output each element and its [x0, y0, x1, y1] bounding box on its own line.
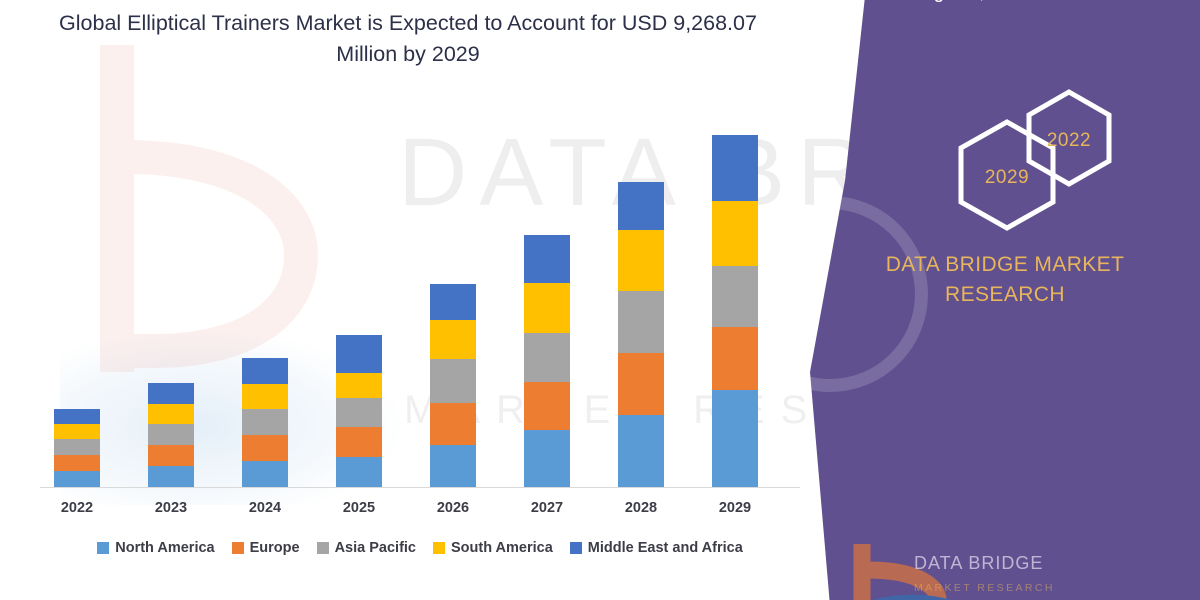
x-axis-label: 2029 [692, 500, 778, 516]
bar-segment [618, 415, 664, 487]
hexagon-badge-2022-label: 2022 [1023, 88, 1115, 193]
bar-segment [54, 409, 100, 424]
brand-logo-subtext: MARKET RESEARCH [914, 582, 1055, 594]
bar-segment [524, 333, 570, 382]
bar-segment [148, 424, 194, 445]
bar-stack [712, 135, 758, 487]
brand-name-line-2: RESEARCH [945, 283, 1065, 306]
brand-logo-text: DATA BRIDGE [914, 553, 1043, 574]
bar-stack [524, 235, 570, 487]
legend-swatch [97, 542, 109, 554]
legend-swatch [570, 542, 582, 554]
bar-segment [618, 230, 664, 291]
bar-stack [54, 409, 100, 487]
legend-label: Middle East and Africa [588, 540, 743, 556]
legend-swatch [232, 542, 244, 554]
x-axis-label: 2024 [222, 500, 308, 516]
brand-name-line-1: DATA BRIDGE MARKET [886, 253, 1125, 276]
chart-legend: North AmericaEuropeAsia PacificSouth Ame… [40, 540, 800, 556]
x-axis-label: 2027 [504, 500, 590, 516]
bar-stack [618, 182, 664, 487]
bar-group [336, 335, 382, 487]
legend-item[interactable]: Asia Pacific [317, 540, 416, 556]
brand-panel: Regions, 2022 to 2029 2029 2022 DATA BRI… [810, 0, 1200, 600]
bar-segment [148, 445, 194, 466]
bar-segment [524, 283, 570, 333]
legend-swatch [317, 542, 329, 554]
bar-segment [524, 430, 570, 487]
bar-segment [54, 439, 100, 455]
bar-stack [336, 335, 382, 487]
bar-segment [148, 466, 194, 487]
panel-heading: Regions, 2022 to 2029 [810, 0, 1200, 6]
bar-segment [242, 435, 288, 461]
legend-swatch [433, 542, 445, 554]
bar-group [148, 383, 194, 487]
x-axis-label: 2026 [410, 500, 496, 516]
x-axis-label: 2022 [34, 500, 120, 516]
bar-segment [618, 353, 664, 415]
hexagon-badge-2022: 2022 [1023, 88, 1115, 193]
infographic-canvas: DATA BRIDGE MARKET RESEARCH Global Ellip… [0, 0, 1200, 600]
bar-stack [148, 383, 194, 487]
bar-group [712, 135, 758, 487]
x-axis-label: 2025 [316, 500, 402, 516]
legend-item[interactable]: North America [97, 540, 214, 556]
bar-segment [336, 373, 382, 398]
bar-segment [712, 390, 758, 487]
bar-group [524, 235, 570, 487]
bar-segment [430, 403, 476, 445]
bar-segment [430, 320, 476, 359]
brand-name: DATA BRIDGE MARKET RESEARCH [810, 250, 1200, 310]
legend-item[interactable]: Middle East and Africa [570, 540, 743, 556]
bar-segment [524, 235, 570, 283]
bar-group [242, 358, 288, 487]
bar-segment [242, 409, 288, 435]
bar-segment [336, 398, 382, 427]
bar-segment [242, 358, 288, 384]
bar-segment [712, 135, 758, 201]
bar-segment [148, 404, 194, 424]
bar-segment [618, 291, 664, 353]
bar-segment [54, 455, 100, 471]
legend-label: South America [451, 540, 553, 556]
bar-segment [336, 335, 382, 373]
stacked-bar-chart: 20222023202420252026202720282029 [0, 0, 830, 600]
bar-group [430, 284, 476, 487]
x-axis-label: 2028 [598, 500, 684, 516]
bar-segment [336, 427, 382, 457]
bar-segment [242, 461, 288, 487]
bar-segment [712, 201, 758, 266]
bar-segment [618, 182, 664, 230]
legend-label: North America [115, 540, 214, 556]
bar-segment [430, 359, 476, 403]
bar-segment [336, 457, 382, 487]
bar-segment [524, 382, 570, 430]
bar-segment [242, 384, 288, 409]
legend-label: Asia Pacific [335, 540, 416, 556]
bar-stack [430, 284, 476, 487]
x-axis-label: 2023 [128, 500, 214, 516]
bar-group [54, 409, 100, 487]
legend-item[interactable]: South America [433, 540, 553, 556]
bar-segment [712, 266, 758, 327]
legend-item[interactable]: Europe [232, 540, 300, 556]
bar-segment [148, 383, 194, 404]
bar-stack [242, 358, 288, 487]
bar-segment [430, 445, 476, 487]
x-axis-line [40, 487, 800, 488]
bar-group [618, 182, 664, 487]
bar-segment [712, 327, 758, 390]
bar-segment [54, 424, 100, 439]
bar-segment [430, 284, 476, 320]
legend-label: Europe [250, 540, 300, 556]
bar-segment [54, 471, 100, 487]
